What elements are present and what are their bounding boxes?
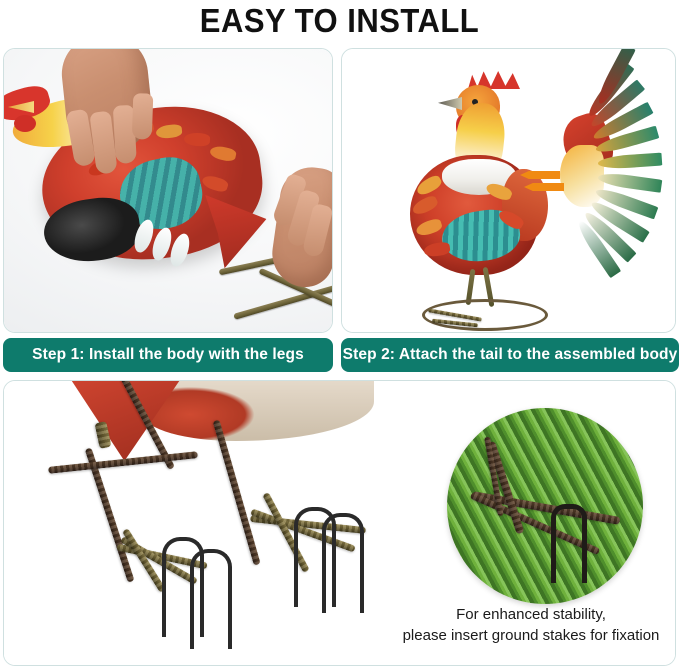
step-1-photo <box>4 49 332 332</box>
finger <box>132 93 154 140</box>
step-2-photo <box>342 49 675 332</box>
inset-ground-stake <box>551 504 587 583</box>
rooster-wattle-icon <box>14 115 36 132</box>
page-title: EASY TO INSTALL <box>20 2 658 40</box>
rooster-base-ring <box>422 299 548 331</box>
step-2-label: Step 2: Attach the tail to the assembled… <box>341 338 679 372</box>
attach-direction-arrows <box>520 169 564 197</box>
step-2-image-panel <box>341 48 676 333</box>
arrow-left-icon <box>520 171 560 179</box>
arrow-left-icon <box>524 183 564 191</box>
stability-caption-line-1: For enhanced stability, <box>386 604 676 625</box>
detached-tail <box>560 79 676 269</box>
ground-stake <box>190 549 232 649</box>
ground-stake <box>322 513 364 613</box>
grass-inset-photo <box>447 408 643 604</box>
step-1-label: Step 1: Install the body with the legs <box>3 338 333 372</box>
stability-caption: For enhanced stability, please insert gr… <box>386 604 676 646</box>
rooster-beak-icon <box>438 97 462 110</box>
step-1-image-panel <box>3 48 333 333</box>
infographic-page: EASY TO INSTALL <box>0 0 679 669</box>
stability-caption-line-2: please insert ground stakes for fixation <box>386 625 676 646</box>
